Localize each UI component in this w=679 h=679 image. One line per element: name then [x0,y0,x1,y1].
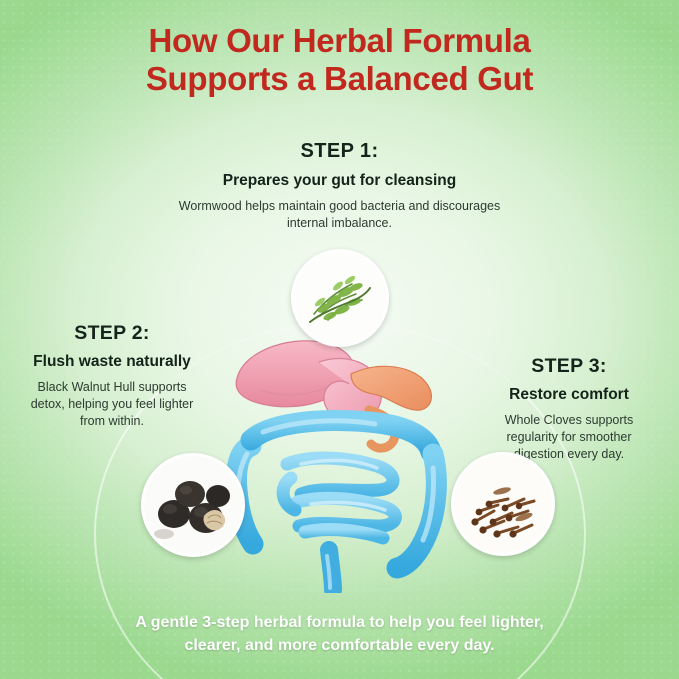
step-2-subheading: Flush waste naturally [28,352,196,371]
step-3-heading: STEP 3: [483,355,655,378]
small-intestine-shape [283,458,395,538]
footer-text: A gentle 3-step herbal formula to help y… [0,611,679,657]
step-2-block: STEP 2: Flush waste naturally Black Waln… [28,322,196,430]
whole-cloves-photo [451,452,555,556]
step-3-block: STEP 3: Restore comfort Whole Cloves sup… [483,355,655,463]
footer-line-2: clearer, and more comfortable every day. [0,634,679,657]
step-2-heading: STEP 2: [28,322,196,345]
title-line-2: Supports a Balanced Gut [0,60,679,98]
wormwood-herb-photo [291,249,389,347]
step-2-description: Black Walnut Hull supports detox, helpin… [28,379,196,430]
rectum-shape [327,550,333,590]
digestive-system-illustration [201,318,486,593]
title-line-1: How Our Herbal Formula [148,22,530,59]
step-1-heading: STEP 1: [0,140,679,163]
step-1-block: STEP 1: Prepares your gut for cleansing … [0,140,679,232]
infographic-page: How Our Herbal Formula Supports a Balanc… [0,0,679,679]
step-1-description: Wormwood helps maintain good bacteria an… [170,198,510,232]
step-3-subheading: Restore comfort [483,385,655,404]
page-title: How Our Herbal Formula Supports a Balanc… [0,22,679,98]
footer-line-1: A gentle 3-step herbal formula to help y… [0,611,679,634]
step-1-subheading: Prepares your gut for cleansing [0,172,679,190]
black-walnut-hull-photo [141,453,245,557]
